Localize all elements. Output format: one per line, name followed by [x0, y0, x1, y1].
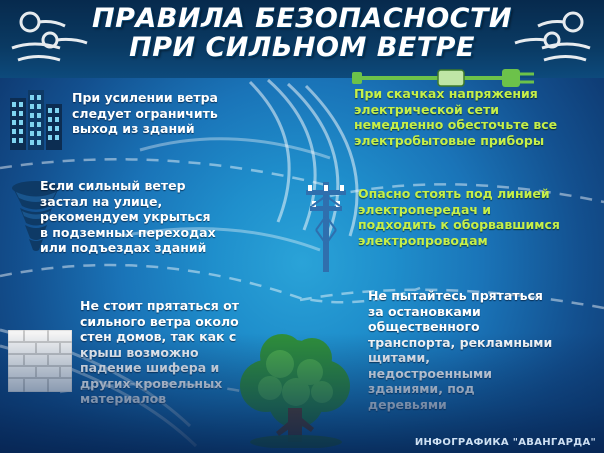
- tip-text-power-surge: При скачках напряженияэлектрической сети…: [354, 86, 598, 148]
- title-line-2: ПРИ СИЛЬНОМ ВЕТРЕ: [0, 33, 604, 62]
- tip-text-buildings: При усилении ветраследует ограничитьвыхо…: [72, 90, 262, 137]
- credit-label: ИНФОГРАФИКА "АВАНГАРДА": [415, 437, 596, 448]
- tip-text-tornado: Если сильный ветерзастал на улице,рекоме…: [40, 178, 272, 256]
- page-title: ПРАВИЛА БЕЗОПАСНОСТИ ПРИ СИЛЬНОМ ВЕТРЕ: [0, 4, 604, 62]
- bottom-glow: [0, 333, 604, 453]
- title-line-1: ПРАВИЛА БЕЗОПАСНОСТИ: [0, 4, 604, 33]
- power-pole-icon: [300, 176, 352, 272]
- tip-text-power-line: Опасно стоять под линиейэлектропередач и…: [358, 186, 600, 248]
- infographic-poster: ПРАВИЛА БЕЗОПАСНОСТИ ПРИ СИЛЬНОМ ВЕТРЕ: [0, 0, 604, 453]
- office-buildings-icon: [8, 88, 64, 150]
